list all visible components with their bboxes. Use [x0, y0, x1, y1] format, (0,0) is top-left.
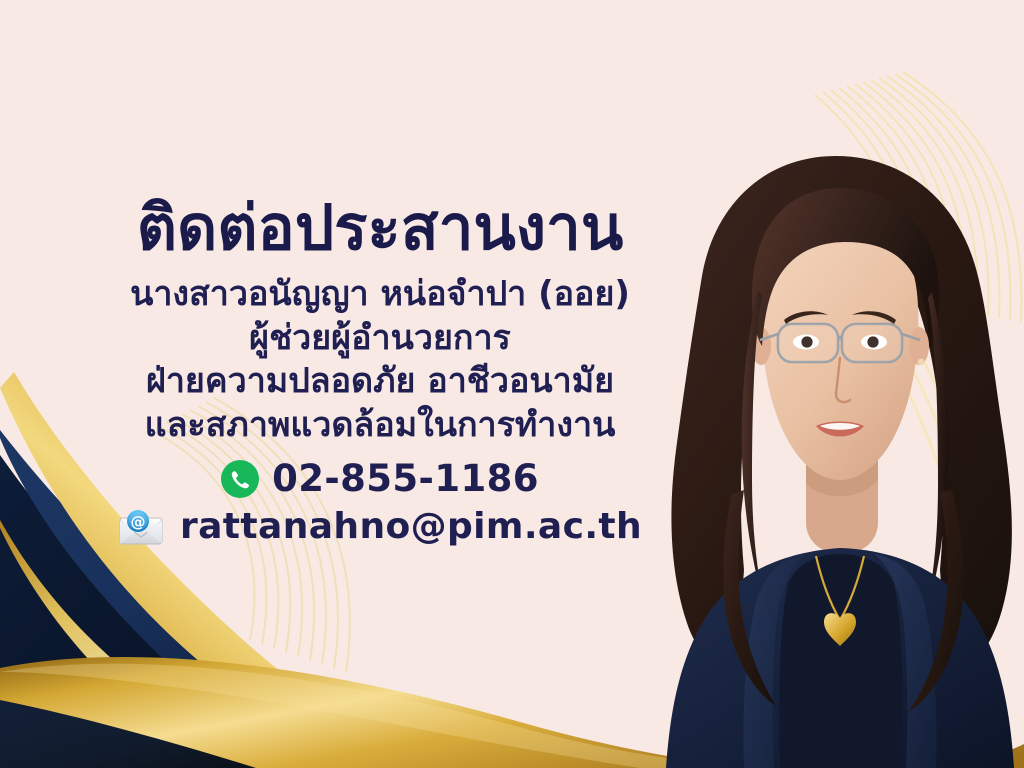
contact-slide: ติดต่อประสานงาน นางสาวอนัญญา หน่อจำปา (อ…: [0, 0, 1024, 768]
email-envelope-icon: @: [118, 508, 164, 546]
staff-name: นางสาวอนัญญา หน่อจำปา (ออย): [60, 273, 700, 317]
navy-corner-wedge: [0, 700, 256, 768]
phone-icon: [221, 460, 259, 498]
svg-text:@: @: [130, 513, 145, 531]
email-contact-row[interactable]: @ rattanahno@pim.ac.th: [60, 506, 700, 547]
inner-top: [779, 554, 902, 768]
staff-position: ผู้ช่วยผู้อำนวยการ: [60, 317, 700, 361]
lens-left: [778, 324, 838, 362]
department-line-1: ฝ่ายความปลอดภัย อาชีวอนามัย: [60, 360, 700, 404]
earring: [918, 359, 925, 366]
gold-ribbon-inner: [0, 520, 290, 768]
phone-number[interactable]: 02-855-1186: [272, 457, 539, 500]
contact-content: ติดต่อประสานงาน นางสาวอนัญญา หน่อจำปา (อ…: [60, 196, 700, 547]
page-title: ติดต่อประสานงาน: [60, 196, 700, 259]
department-line-2: และสภาพแวดล้อมในการทำงาน: [60, 404, 700, 448]
phone-contact-row[interactable]: 02-855-1186: [60, 457, 700, 500]
lens-right: [842, 324, 902, 362]
email-address[interactable]: rattanahno@pim.ac.th: [180, 506, 642, 547]
